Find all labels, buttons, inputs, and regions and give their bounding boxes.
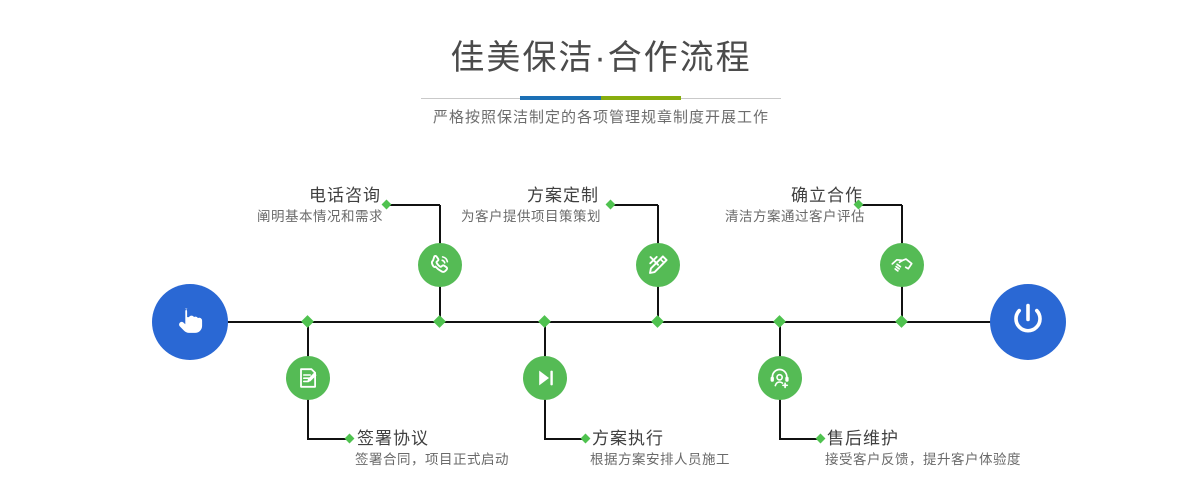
step-label-3: 方案定制 为客户提供项目策策划 [461, 185, 601, 227]
step-node-6[interactable] [758, 356, 802, 400]
step-title-6: 售后维护 [825, 428, 1021, 450]
step-desc-1: 阐明基本情况和需求 [257, 207, 383, 227]
step-title-3: 方案定制 [461, 185, 601, 207]
step-desc-2: 签署合同，项目正式启动 [355, 450, 509, 470]
step-node-1[interactable] [418, 243, 462, 287]
pointing-hand-icon [170, 300, 210, 345]
power-icon [1007, 299, 1049, 346]
branch-marker-1 [382, 200, 392, 210]
step-label-1: 电话咨询 阐明基本情况和需求 [257, 185, 383, 227]
axis-marker-3 [651, 315, 664, 328]
step-desc-5: 清洁方案通过客户评估 [725, 207, 865, 227]
branch-marker-4 [581, 434, 591, 444]
step-desc-3: 为客户提供项目策策划 [461, 207, 601, 227]
axis-marker-1 [433, 315, 446, 328]
axis-marker-4 [538, 315, 551, 328]
branch-marker-3 [606, 200, 616, 210]
flow-start-endpoint[interactable] [152, 284, 228, 360]
branch-marker-2 [345, 434, 355, 444]
pencil-plan-icon [645, 252, 671, 278]
page-title: 佳美保洁·合作流程 [0, 36, 1202, 80]
branch-marker-6 [816, 434, 826, 444]
phone-call-icon [427, 252, 453, 278]
step-label-5: 确立合作 清洁方案通过客户评估 [725, 185, 865, 227]
page-subtitle: 严格按照保洁制定的各项管理规章制度开展工作 [0, 106, 1202, 127]
step-desc-6: 接受客户反馈，提升客户体验度 [825, 450, 1021, 470]
step-title-4: 方案执行 [590, 428, 730, 450]
title-divider [0, 96, 1202, 102]
play-next-icon [532, 365, 558, 391]
step-title-1: 电话咨询 [257, 185, 383, 207]
step-label-4: 方案执行 根据方案安排人员施工 [590, 428, 730, 470]
step-node-2[interactable] [286, 356, 330, 400]
branch-arm-1 [390, 204, 440, 206]
step-label-2: 签署协议 签署合同，项目正式启动 [355, 428, 509, 470]
step-label-6: 售后维护 接受客户反馈，提升客户体验度 [825, 428, 1021, 470]
flowchart-page: 佳美保洁·合作流程 严格按照保洁制定的各项管理规章制度开展工作 [0, 0, 1202, 502]
handshake-icon [889, 252, 915, 278]
customer-support-add-icon [767, 365, 793, 391]
step-title-5: 确立合作 [725, 185, 865, 207]
divider-segment-blue [520, 96, 602, 100]
flow-end-endpoint[interactable] [990, 284, 1066, 360]
axis-marker-2 [301, 315, 314, 328]
axis-marker-5 [895, 315, 908, 328]
divider-segment-green [601, 96, 681, 100]
step-node-5[interactable] [880, 243, 924, 287]
axis-marker-6 [773, 315, 786, 328]
step-title-2: 签署协议 [355, 428, 509, 450]
branch-arm-5 [862, 204, 902, 206]
step-node-4[interactable] [523, 356, 567, 400]
branch-arm-3 [614, 204, 658, 206]
step-node-3[interactable] [636, 243, 680, 287]
document-edit-icon [295, 365, 321, 391]
step-desc-4: 根据方案安排人员施工 [590, 450, 730, 470]
